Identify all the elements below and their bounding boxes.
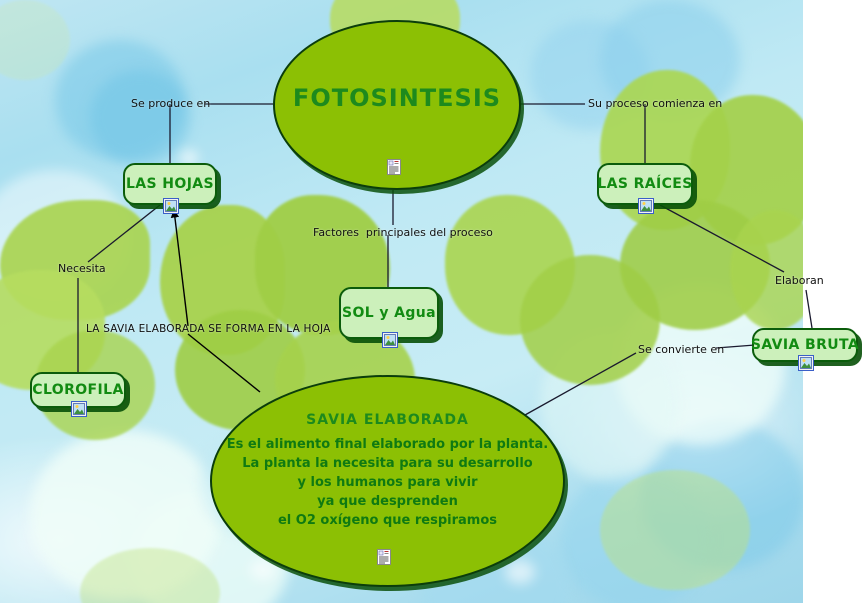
node-savia-elaborada-line-1: La planta la necesita para su desarrollo [212, 454, 563, 473]
image-icon[interactable] [163, 198, 179, 214]
mindmap-canvas: FOTOSINTESIS SAVIA ELABORADA Es el alime… [0, 0, 863, 603]
node-las-raices-label: LAS RAÍCES [597, 176, 692, 192]
node-savia-elaborada[interactable]: SAVIA ELABORADA Es el alimento final ela… [210, 375, 565, 587]
node-fotosintesis-label: FOTOSINTESIS [275, 84, 519, 112]
edge-label-factores: Factores principales del proceso [313, 226, 493, 239]
document-icon[interactable] [386, 159, 402, 175]
image-icon[interactable] [382, 332, 398, 348]
node-savia-elaborada-line-4: el O2 oxígeno que respiramos [212, 511, 563, 530]
node-sol-y-agua[interactable]: SOL y Agua [339, 287, 439, 339]
edge-label-su-proceso-comienza-en: Su proceso comienza en [588, 97, 722, 110]
node-savia-elaborada-title: SAVIA ELABORADA [212, 412, 563, 428]
edge-label-necesita: Necesita [58, 262, 106, 275]
image-icon[interactable] [638, 198, 654, 214]
node-savia-elaborada-line-0: Es el alimento final elaborado por la pl… [212, 435, 563, 454]
image-icon[interactable] [798, 355, 814, 371]
node-clorofila-label: CLOROFILA [32, 382, 123, 398]
node-las-hojas-label: LAS HOJAS [126, 176, 214, 192]
node-sol-y-agua-label: SOL y Agua [342, 305, 436, 321]
node-savia-elaborada-line-3: ya que desprenden [212, 492, 563, 511]
node-clorofila[interactable]: CLOROFILA [30, 372, 126, 408]
edge-label-se-convierte-en: Se convierte en [638, 343, 724, 356]
node-las-raices[interactable]: LAS RAÍCES [597, 163, 693, 205]
edge-label-elaboran: Elaboran [775, 274, 824, 287]
image-icon[interactable] [71, 401, 87, 417]
node-savia-bruta[interactable]: SAVIA BRUTA [752, 328, 858, 362]
edge-label-se-produce-en: Se produce en [131, 97, 210, 110]
edge-label-savia-forma-hoja: LA SAVIA ELABORADA SE FORMA EN LA HOJA [86, 323, 331, 335]
node-savia-bruta-label: SAVIA BRUTA [751, 337, 859, 353]
node-fotosintesis[interactable]: FOTOSINTESIS [273, 20, 521, 190]
node-savia-elaborada-line-2: y los humanos para vivir [212, 473, 563, 492]
document-icon[interactable] [376, 549, 392, 565]
right-white-margin [803, 0, 863, 603]
node-las-hojas[interactable]: LAS HOJAS [123, 163, 217, 205]
